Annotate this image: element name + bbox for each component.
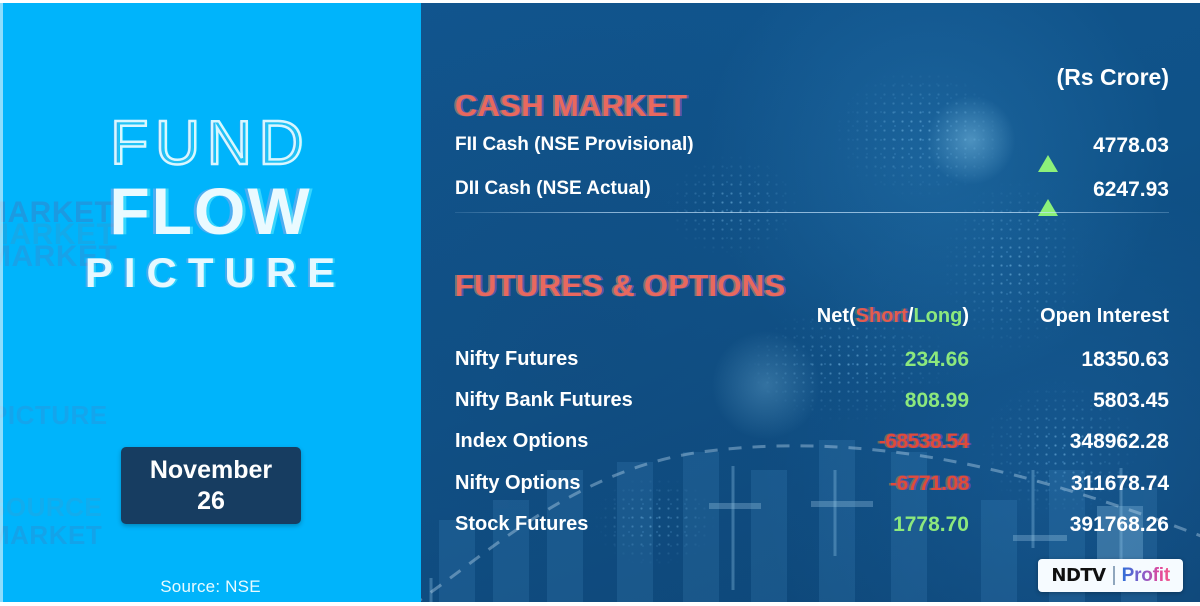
row-net-value: -6771.08: [749, 472, 969, 496]
unit-label: (Rs Crore): [1057, 64, 1169, 91]
table-row-stock-futures: Stock Futures 1778.70 391768.26: [455, 513, 1169, 541]
source-label: Source: NSE: [0, 577, 421, 597]
row-label: Stock Futures: [455, 513, 588, 536]
column-header-open-interest: Open Interest: [989, 305, 1169, 328]
net-long-label: Long: [913, 305, 962, 327]
section-divider: [455, 212, 1169, 213]
date-month: November: [150, 455, 272, 486]
row-label: Nifty Options: [455, 472, 581, 495]
row-net-value: 808.99: [749, 389, 969, 413]
row-net-value: 234.66: [749, 348, 969, 372]
fund-flow-picture-graphic: MARKET MARKET MARKET PICTURE SOURCE MARK…: [0, 0, 1200, 606]
table-row-nifty-bank-futures: Nifty Bank Futures 808.99 5803.45: [455, 389, 1169, 417]
date-day: 26: [197, 486, 225, 517]
row-open-interest: 348962.28: [979, 430, 1169, 454]
frame-edge-left: [0, 0, 3, 606]
table-row-nifty-futures: Nifty Futures 234.66 18350.63: [455, 348, 1169, 376]
row-open-interest: 391768.26: [979, 513, 1169, 537]
row-label: Nifty Futures: [455, 348, 578, 371]
table-row-dii-cash: DII Cash (NSE Actual) 6247.93: [455, 178, 1169, 208]
row-label: DII Cash (NSE Actual): [455, 178, 651, 200]
logo-text-profit: Profit: [1122, 565, 1170, 587]
row-open-interest: 311678.74: [979, 472, 1169, 496]
row-net-value: 1778.70: [749, 513, 969, 537]
table-row-nifty-options: Nifty Options -6771.08 311678.74: [455, 472, 1169, 500]
net-suffix: ): [962, 305, 969, 327]
data-panel: (Rs Crore) CASH MARKET FII Cash (NSE Pro…: [421, 0, 1200, 606]
column-header-net: Net(Short/Long): [817, 305, 969, 328]
ghost-artifact-text: PICTURE: [0, 400, 108, 431]
row-label: Nifty Bank Futures: [455, 389, 633, 412]
net-short-label: Short: [856, 305, 908, 327]
row-value: 6247.93: [939, 178, 1169, 202]
left-branding-panel: MARKET MARKET MARKET PICTURE SOURCE MARK…: [0, 0, 421, 606]
ghost-artifact-text: MARKET: [0, 520, 102, 551]
frame-edge-top: [0, 0, 1200, 3]
table-row-fii-cash: FII Cash (NSE Provisional) 4778.03: [455, 134, 1169, 164]
logo-word-fund: FUND: [0, 112, 421, 176]
net-prefix: Net(: [817, 305, 856, 327]
table-row-index-options: Index Options -68538.54 348962.28: [455, 430, 1169, 458]
program-logo: FUND FLOW PICTURE: [0, 112, 421, 300]
frame-edge-bottom: [0, 602, 1200, 606]
date-badge: November 26: [121, 447, 301, 524]
logo-text-ndtv: NDTV: [1051, 565, 1105, 586]
logo-word-picture: PICTURE: [0, 246, 421, 300]
row-label: Index Options: [455, 430, 588, 453]
row-net-value: -68538.54: [749, 430, 969, 454]
column-header-row: Net(Short/Long) Open Interest: [455, 305, 1169, 331]
ghost-artifact-text: SOURCE: [0, 492, 102, 523]
row-label: FII Cash (NSE Provisional): [455, 134, 694, 156]
section-heading-cash-market: CASH MARKET: [455, 88, 687, 124]
ndtv-profit-logo: NDTV Profit: [1038, 559, 1183, 592]
row-open-interest: 18350.63: [979, 348, 1169, 372]
row-value: 4778.03: [939, 134, 1169, 158]
row-open-interest: 5803.45: [979, 389, 1169, 413]
logo-word-flow: FLOW: [0, 176, 421, 246]
logo-divider-icon: [1113, 566, 1115, 585]
section-heading-futures-options: FUTURES & OPTIONS: [455, 268, 786, 304]
